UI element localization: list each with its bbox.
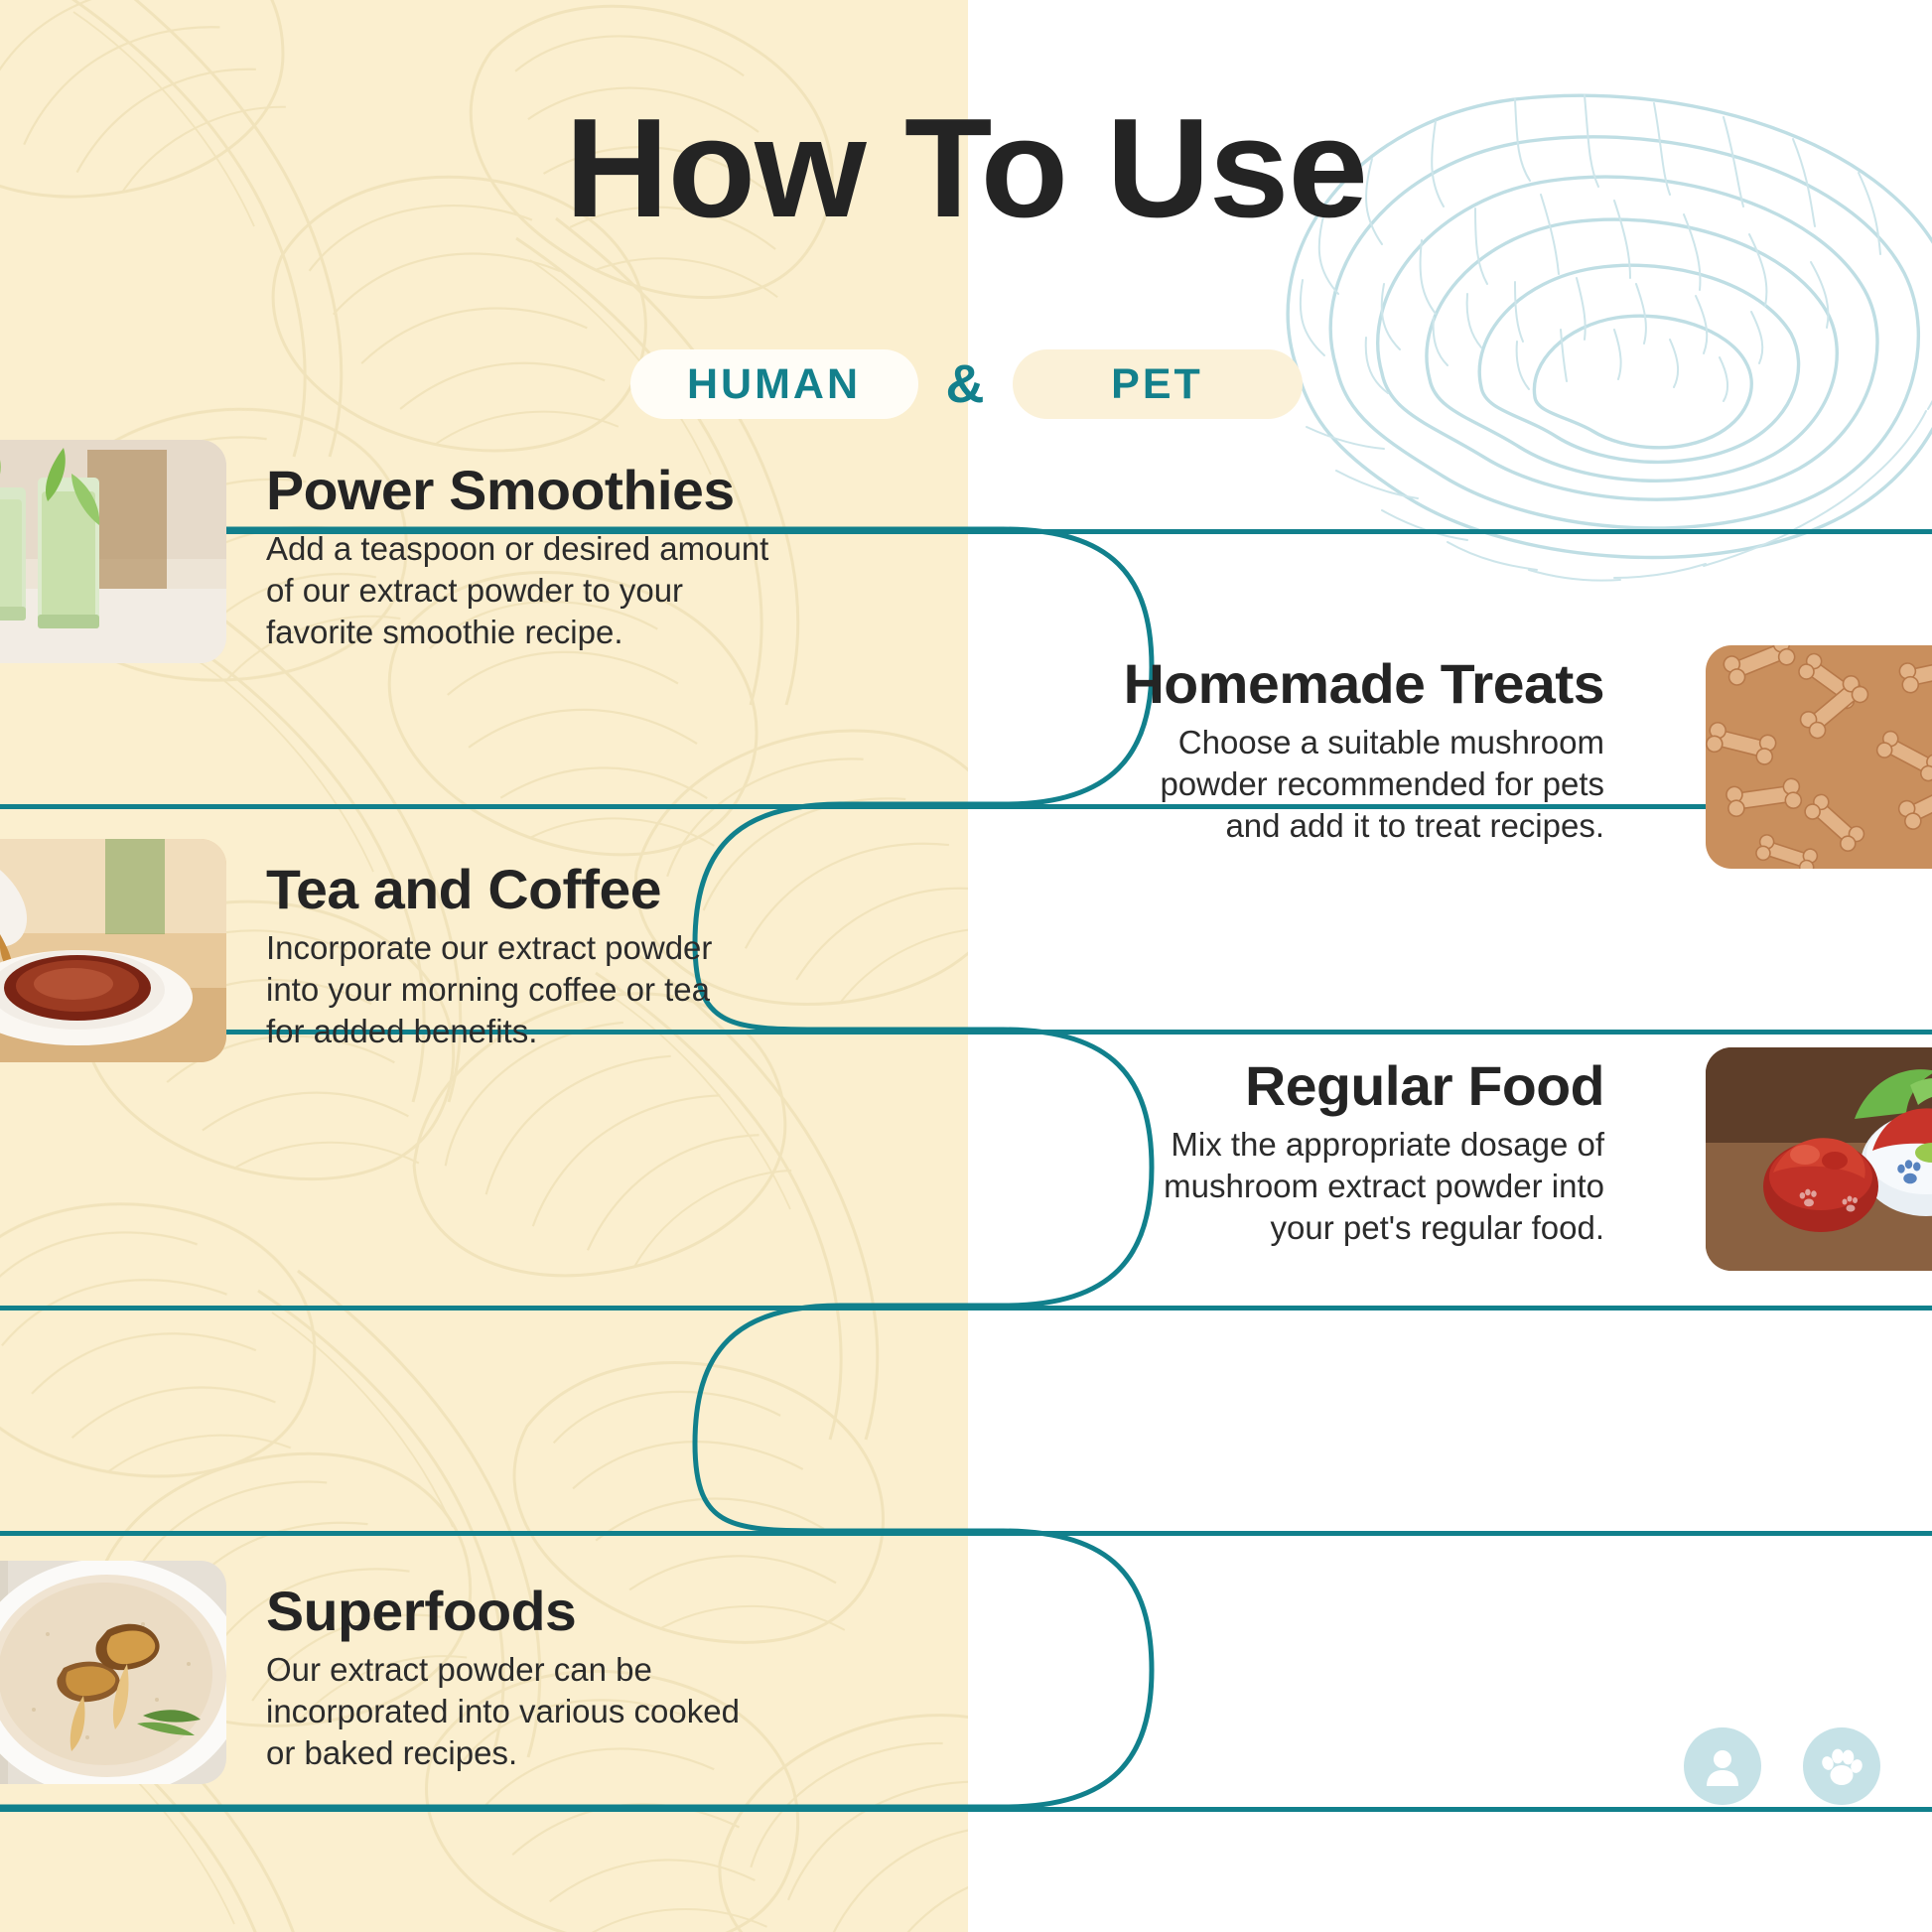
section-body-tea-and-coffee: Incorporate our extract powder into your… xyxy=(266,927,782,1053)
section-title-tea-and-coffee: Tea and Coffee xyxy=(266,861,792,919)
pet-icon-badge xyxy=(1803,1727,1880,1805)
section-text-homemade-treats: Homemade Treats Choose a suitable mushro… xyxy=(1088,655,1604,848)
section-body-homemade-treats: Choose a suitable mushroom powder recomm… xyxy=(1088,722,1604,848)
section-body-power-smoothies: Add a teaspoon or desired amount of our … xyxy=(266,528,782,654)
section-body-regular-food: Mix the appropriate dosage of mushroom e… xyxy=(1088,1124,1604,1250)
human-icon-badge xyxy=(1684,1727,1761,1805)
section-text-power-smoothies: Power Smoothies Add a teaspoon or desire… xyxy=(266,462,782,654)
section-row-regular-food: Regular Food Mix the appropriate dosage … xyxy=(0,1047,1932,1286)
badge-pet[interactable]: PET xyxy=(1013,349,1303,419)
footer-audience-icons xyxy=(1684,1727,1880,1805)
infographic-poster: How To Use HUMAN & PET xyxy=(0,0,1932,1932)
section-title-homemade-treats: Homemade Treats xyxy=(1078,655,1604,714)
audience-badges: HUMAN & PET xyxy=(0,349,1932,419)
ampersand-separator: & xyxy=(918,353,1013,415)
badge-pet-label: PET xyxy=(1111,360,1203,409)
badge-human[interactable]: HUMAN xyxy=(630,349,918,419)
section-text-tea-and-coffee: Tea and Coffee Incorporate our extract p… xyxy=(266,861,782,1053)
paw-icon xyxy=(1818,1742,1865,1790)
person-icon xyxy=(1699,1742,1746,1790)
section-title-regular-food: Regular Food xyxy=(1078,1057,1604,1116)
thumb-pet-food-bowls-photo xyxy=(1706,1047,1932,1271)
section-text-regular-food: Regular Food Mix the appropriate dosage … xyxy=(1088,1057,1604,1250)
divider-line-4 xyxy=(0,1306,1932,1311)
thumb-mushroom-soup-bowl-photo xyxy=(0,1561,226,1784)
section-text-superfoods: Superfoods Our extract powder can be inc… xyxy=(266,1583,782,1775)
section-title-power-smoothies: Power Smoothies xyxy=(266,462,792,520)
section-body-superfoods: Our extract powder can be incorporated i… xyxy=(266,1649,782,1775)
badge-human-label: HUMAN xyxy=(687,360,861,409)
divider-line-5 xyxy=(0,1531,1932,1536)
section-row-superfoods: Superfoods Our extract powder can be inc… xyxy=(0,1561,1932,1859)
page-title: How To Use xyxy=(0,94,1932,242)
thumb-green-smoothie-glasses-photo xyxy=(0,440,226,663)
section-title-superfoods: Superfoods xyxy=(266,1583,792,1641)
thumb-dog-bone-biscuits-photo xyxy=(1706,645,1932,869)
thumb-pouring-tea-cup-photo xyxy=(0,839,226,1062)
